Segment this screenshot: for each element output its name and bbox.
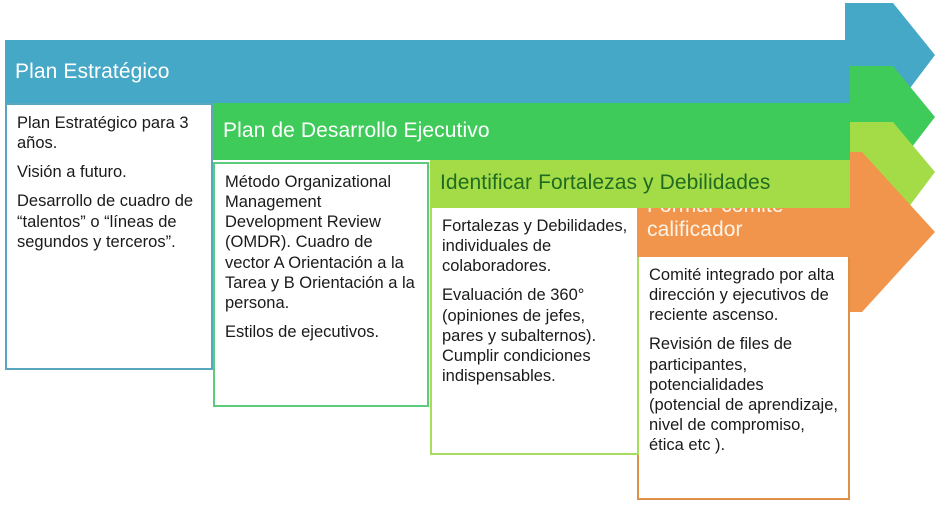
stage-header-label: Identificar Fortalezas y Debilidades <box>440 171 770 195</box>
stage-body-identificar-fortalezas-debilidades: Fortalezas y Debilidades, individuales d… <box>430 206 639 455</box>
stage-body-paragraph: Estilos de ejecutivos. <box>225 322 418 342</box>
stage-body-paragraph: Método Organizational Management Develop… <box>225 172 418 313</box>
stage-body-paragraph: Visión a futuro. <box>17 162 202 182</box>
stage-body-formar-comite-calificador: Comité integrado por alta dirección y ej… <box>637 255 850 500</box>
stage-header-plan-desarrollo-ejecutivo[interactable]: Plan de Desarrollo Ejecutivo <box>213 101 850 160</box>
stage-header-plan-estrategico[interactable]: Plan Estratégico <box>5 40 850 103</box>
diagram-canvas: Plan Estratégico Plan Estratégico para 3… <box>0 0 935 525</box>
stage-header-label: Plan Estratégico <box>15 60 170 84</box>
stage-body-paragraph: Plan Estratégico para 3 años. <box>17 113 202 153</box>
stage-body-paragraph: Desarrollo de cuadro de “talentos” o “lí… <box>17 191 202 251</box>
stage-body-plan-estrategico: Plan Estratégico para 3 años. Visión a f… <box>5 103 213 370</box>
stage-body-paragraph: Fortalezas y Debilidades, individuales d… <box>442 216 628 276</box>
stage-body-paragraph: Comité integrado por alta dirección y ej… <box>649 265 839 325</box>
stage-body-paragraph: Revisión de files de participantes, pote… <box>649 334 839 455</box>
stage-header-identificar-fortalezas-debilidades[interactable]: Identificar Fortalezas y Debilidades <box>430 157 850 208</box>
stage-body-plan-desarrollo-ejecutivo: Método Organizational Management Develop… <box>213 162 429 407</box>
stage-body-paragraph: Evaluación de 360° (opiniones de jefes, … <box>442 285 628 386</box>
stage-header-label: Plan de Desarrollo Ejecutivo <box>223 119 490 143</box>
